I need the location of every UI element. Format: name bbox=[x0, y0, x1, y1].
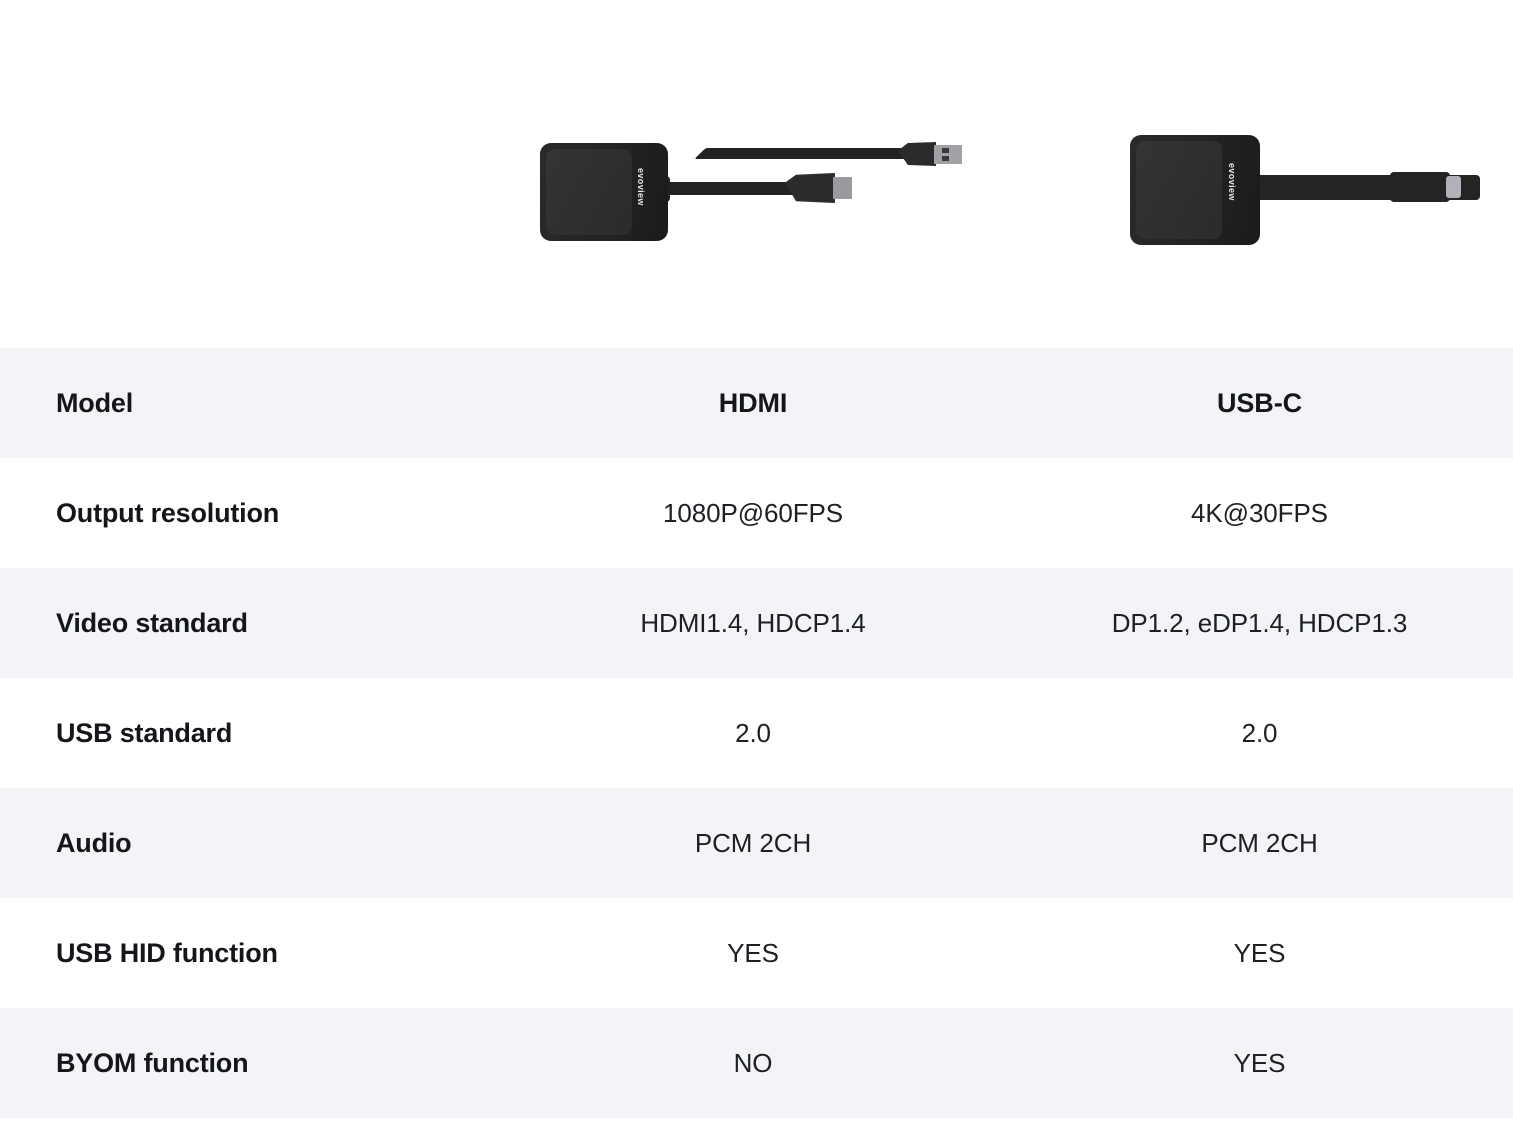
brand-logo-usbc: evoview bbox=[1227, 163, 1237, 201]
cell-hdmi-usb-hid-function: YES bbox=[500, 938, 1006, 969]
usb-cable-horizontal bbox=[734, 148, 914, 159]
row-label-video-standard: Video standard bbox=[0, 608, 500, 639]
row-label-usb-hid-function: USB HID function bbox=[0, 938, 500, 969]
product-image-hdmi: evoview bbox=[500, 0, 1020, 348]
product-image-usbc: evoview bbox=[1090, 0, 1510, 348]
cell-usbc-usb-hid-function: YES bbox=[1006, 938, 1513, 969]
usb-a-connector-body bbox=[898, 142, 936, 166]
cell-hdmi-output-resolution: 1080P@60FPS bbox=[500, 498, 1006, 529]
column-header-hdmi: HDMI bbox=[500, 388, 1006, 419]
row-label-audio: Audio bbox=[0, 828, 500, 859]
hdmi-dongle-face-panel bbox=[546, 149, 632, 235]
table-row: Audio PCM 2CH PCM 2CH bbox=[0, 788, 1513, 898]
cell-usbc-usb-standard: 2.0 bbox=[1006, 718, 1513, 749]
cell-usbc-audio: PCM 2CH bbox=[1006, 828, 1513, 859]
table-row: USB HID function YES YES bbox=[0, 898, 1513, 1008]
cell-usbc-byom-function: YES bbox=[1006, 1048, 1513, 1079]
specification-table: Model HDMI USB-C Output resolution 1080P… bbox=[0, 348, 1513, 1118]
brand-logo-hdmi: evoview bbox=[636, 168, 646, 206]
cell-hdmi-usb-standard: 2.0 bbox=[500, 718, 1006, 749]
product-image-strip: evoview evoview bbox=[0, 0, 1513, 348]
table-row: Video standard HDMI1.4, HDCP1.4 DP1.2, e… bbox=[0, 568, 1513, 678]
column-header-usbc: USB-C bbox=[1006, 388, 1513, 419]
table-row: USB standard 2.0 2.0 bbox=[0, 678, 1513, 788]
usbc-dongle-face-panel bbox=[1136, 141, 1222, 239]
column-header-model: Model bbox=[0, 388, 500, 419]
cell-usbc-video-standard: DP1.2, eDP1.4, HDCP1.3 bbox=[1006, 608, 1513, 639]
table-row: BYOM function NO YES bbox=[0, 1008, 1513, 1118]
hdmi-connector-body bbox=[785, 173, 835, 203]
table-header-row: Model HDMI USB-C bbox=[0, 348, 1513, 458]
cell-hdmi-audio: PCM 2CH bbox=[500, 828, 1006, 859]
row-label-output-resolution: Output resolution bbox=[0, 498, 500, 529]
usb-a-contact-pin-bottom bbox=[942, 156, 949, 161]
row-label-usb-standard: USB standard bbox=[0, 718, 500, 749]
table-row: Output resolution 1080P@60FPS 4K@30FPS bbox=[0, 458, 1513, 568]
hdmi-connector-tip bbox=[833, 177, 852, 199]
cell-usbc-output-resolution: 4K@30FPS bbox=[1006, 498, 1513, 529]
usb-a-contact-pin-top bbox=[942, 148, 949, 153]
usb-c-connector-body bbox=[1390, 172, 1450, 202]
product-comparison-page: evoview evoview Model HDMI USB-C Output … bbox=[0, 0, 1513, 1126]
usb-c-connector-tip bbox=[1446, 176, 1461, 198]
cell-hdmi-byom-function: NO bbox=[500, 1048, 1006, 1079]
row-label-byom-function: BYOM function bbox=[0, 1048, 500, 1079]
cell-hdmi-video-standard: HDMI1.4, HDCP1.4 bbox=[500, 608, 1006, 639]
